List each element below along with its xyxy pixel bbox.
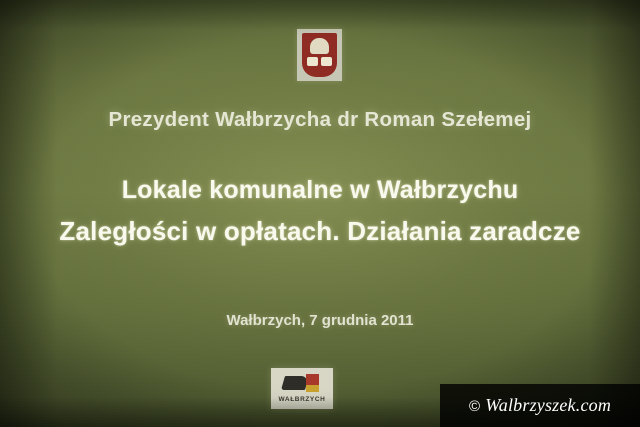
city-logo-mark <box>271 370 333 396</box>
copyright-icon: © <box>469 398 480 415</box>
slide-title-line-2: Zaległości w opłatach. Działania zaradcz… <box>0 216 640 247</box>
coat-of-arms-bar-right <box>321 57 332 66</box>
coat-of-arms-icon <box>297 29 342 81</box>
slide-title-line-1: Lokale komunalne w Wałbrzychu <box>0 176 640 205</box>
city-logo-caption: WAŁBRZYCH <box>271 396 333 403</box>
coat-of-arms-figure <box>310 38 329 54</box>
slide-photograph: Prezydent Wałbrzycha dr Roman Szełemej L… <box>0 0 640 427</box>
city-logo-shape-yellow <box>306 385 319 392</box>
slide-heading: Prezydent Wałbrzycha dr Roman Szełemej <box>0 108 640 132</box>
coat-of-arms-bar-left <box>307 57 318 66</box>
watermark-bar: ©Walbrzyszek.com <box>440 384 640 427</box>
coat-of-arms-shield <box>302 33 337 77</box>
city-logo: WAŁBRZYCH <box>271 368 333 409</box>
slide-place-and-date: Wałbrzych, 7 grudnia 2011 <box>0 312 640 329</box>
city-logo-shape-dark <box>281 376 309 390</box>
watermark-site-name: Walbrzyszek.com <box>485 395 611 415</box>
watermark-label: ©Walbrzyszek.com <box>469 395 611 416</box>
